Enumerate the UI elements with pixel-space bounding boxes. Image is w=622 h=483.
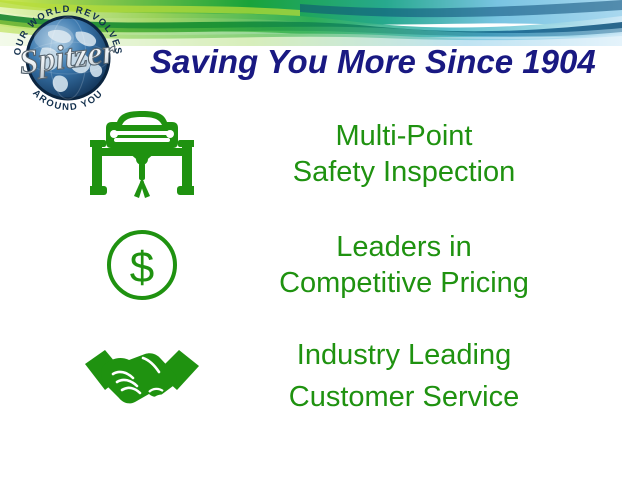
feature-line: Safety Inspection — [210, 154, 598, 190]
car-lift-icon — [78, 108, 206, 200]
feature-line: Industry Leading — [210, 334, 598, 376]
feature-line: Multi-Point — [210, 118, 598, 154]
feature-text: Industry Leading Customer Service — [206, 334, 598, 418]
feature-row: $ Leaders in Competitive Pricing — [78, 222, 598, 308]
dollar-circle-icon: $ — [78, 222, 206, 308]
feature-line: Competitive Pricing — [210, 265, 598, 301]
logo-graphic: OUR WORLD REVOLVES AROUND YOU Spitzer — [4, 2, 132, 114]
feature-row: Multi-Point Safety Inspection — [78, 108, 598, 200]
feature-line: Customer Service — [210, 376, 598, 418]
spitzer-globe-logo: OUR WORLD REVOLVES AROUND YOU Spitzer — [4, 2, 132, 114]
feature-line: Leaders in — [210, 229, 598, 265]
page-title: Saving You More Since 1904 — [150, 40, 612, 84]
feature-text: Multi-Point Safety Inspection — [206, 118, 598, 190]
feature-text: Leaders in Competitive Pricing — [206, 229, 598, 301]
slide-canvas: OUR WORLD REVOLVES AROUND YOU Spitzer Sa… — [0, 0, 622, 483]
handshake-icon — [78, 330, 206, 422]
feature-row: Industry Leading Customer Service — [78, 330, 598, 422]
svg-text:$: $ — [130, 243, 154, 292]
